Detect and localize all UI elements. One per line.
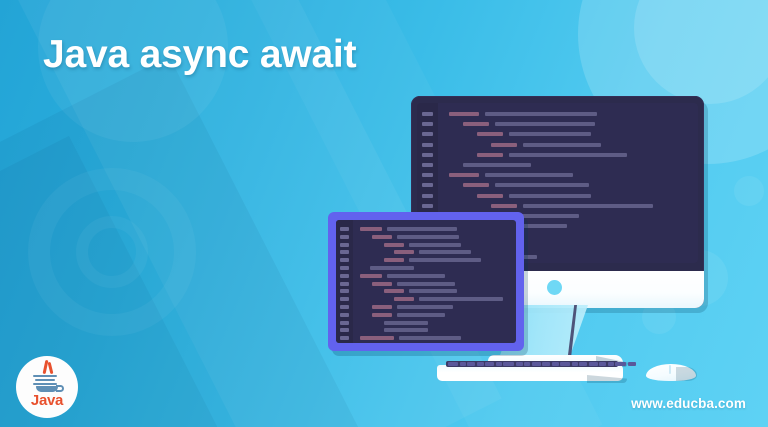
code-line-number — [340, 274, 349, 278]
code-text-token — [419, 250, 471, 254]
code-line-number — [340, 250, 349, 254]
code-text-token — [419, 297, 503, 301]
keyboard-key — [560, 362, 570, 366]
tablet-frame — [328, 212, 524, 351]
bubble-4 — [734, 176, 764, 206]
keyboard-keys — [448, 362, 616, 366]
code-keyword-token — [449, 173, 479, 177]
code-line-number — [340, 235, 349, 239]
code-keyword-token — [384, 258, 404, 262]
code-text-token — [485, 112, 597, 116]
code-text-token — [495, 122, 595, 126]
code-keyword-token — [360, 274, 382, 278]
java-logo: Java — [16, 356, 78, 418]
keyboard-key — [579, 362, 587, 366]
page-title: Java async await — [43, 33, 356, 77]
gear-inner-ring-watermark — [76, 216, 148, 288]
code-keyword-token — [394, 297, 414, 301]
keyboard-key — [572, 362, 578, 366]
keyboard-key — [460, 362, 466, 366]
mouse-shadow — [676, 367, 697, 381]
code-line-number — [340, 243, 349, 247]
code-keyword-token — [463, 183, 489, 187]
code-text-token — [384, 328, 428, 332]
code-text-token — [397, 282, 455, 286]
keyboard-key — [503, 362, 514, 366]
code-keyword-token — [491, 204, 517, 208]
keyboard-key — [516, 362, 523, 366]
code-text-token — [509, 132, 591, 136]
code-text-token — [523, 143, 601, 147]
monitor-power-dot — [547, 280, 562, 295]
website-url: www.educba.com — [631, 396, 746, 411]
code-line-number — [340, 305, 349, 309]
code-text-token — [387, 274, 445, 278]
code-keyword-token — [477, 194, 503, 198]
code-line-number — [340, 297, 349, 301]
java-cup-handle — [56, 385, 64, 392]
code-keyword-token — [372, 305, 392, 309]
keyboard-key — [615, 362, 626, 366]
keyboard-key — [542, 362, 550, 366]
code-line-number — [340, 313, 349, 317]
code-line-number — [422, 204, 433, 208]
code-keyword-token — [372, 313, 392, 317]
code-keyword-token — [491, 143, 517, 147]
mouse-button-divider — [669, 365, 671, 374]
keyboard-key — [477, 362, 484, 366]
code-keyword-token — [384, 289, 404, 293]
code-text-token — [370, 266, 414, 270]
code-line-number — [340, 258, 349, 262]
code-line-number — [422, 183, 433, 187]
code-text-token — [409, 243, 461, 247]
code-keyword-token — [372, 282, 392, 286]
keyboard-key — [589, 362, 598, 366]
keyboard-key — [532, 362, 541, 366]
code-line-number — [422, 112, 433, 116]
code-text-token — [509, 194, 591, 198]
code-keyword-token — [360, 336, 394, 340]
code-text-token — [384, 321, 428, 325]
code-text-token — [387, 227, 457, 231]
code-text-token — [409, 289, 457, 293]
computer-mouse — [646, 358, 696, 382]
keyboard-key — [448, 362, 458, 366]
code-text-token — [509, 153, 627, 157]
code-line-number — [422, 153, 433, 157]
code-keyword-token — [449, 112, 479, 116]
code-line-number — [340, 282, 349, 286]
keyboard-key — [485, 362, 494, 366]
code-keyword-token — [394, 250, 414, 254]
keyboard-key — [552, 362, 559, 366]
code-text-token — [485, 173, 573, 177]
code-line-number — [422, 173, 433, 177]
code-line-number — [340, 266, 349, 270]
code-line-number — [340, 321, 349, 325]
java-coffee-cup — [33, 375, 61, 391]
code-line-number — [422, 122, 433, 126]
keyboard-key — [608, 362, 614, 366]
code-text-token — [397, 235, 459, 239]
code-text-token — [399, 336, 461, 340]
code-keyword-token — [384, 243, 404, 247]
code-line-number — [422, 132, 433, 136]
code-line-number — [422, 163, 433, 167]
code-text-token — [397, 313, 445, 317]
code-keyword-token — [463, 122, 489, 126]
code-line-number — [340, 336, 349, 340]
java-cup-bar-2 — [35, 379, 55, 381]
code-text-token — [495, 183, 589, 187]
code-keyword-token — [372, 235, 392, 239]
keyboard-key — [599, 362, 606, 366]
keyboard — [437, 361, 623, 383]
code-keyword-token — [360, 227, 382, 231]
code-line-number — [340, 328, 349, 332]
keyboard-key — [496, 362, 502, 366]
code-line-number — [340, 227, 349, 231]
code-line-number — [422, 194, 433, 198]
code-text-token — [409, 258, 481, 262]
code-text-token — [397, 305, 453, 309]
tablet-screen — [336, 220, 516, 343]
keyboard-key — [467, 362, 475, 366]
java-logo-label: Java — [16, 392, 78, 409]
java-cup-bar-1 — [33, 375, 57, 377]
code-line-number — [422, 143, 433, 147]
keyboard-key — [524, 362, 530, 366]
code-line-number — [340, 289, 349, 293]
keyboard-key — [628, 362, 636, 366]
code-keyword-token — [477, 132, 503, 136]
code-text-token — [463, 163, 531, 167]
banner-graphic: Java async await — [0, 0, 768, 427]
code-text-token — [523, 204, 653, 208]
tablet-code-block — [336, 220, 516, 343]
tablet-device — [328, 212, 524, 351]
code-keyword-token — [477, 153, 503, 157]
